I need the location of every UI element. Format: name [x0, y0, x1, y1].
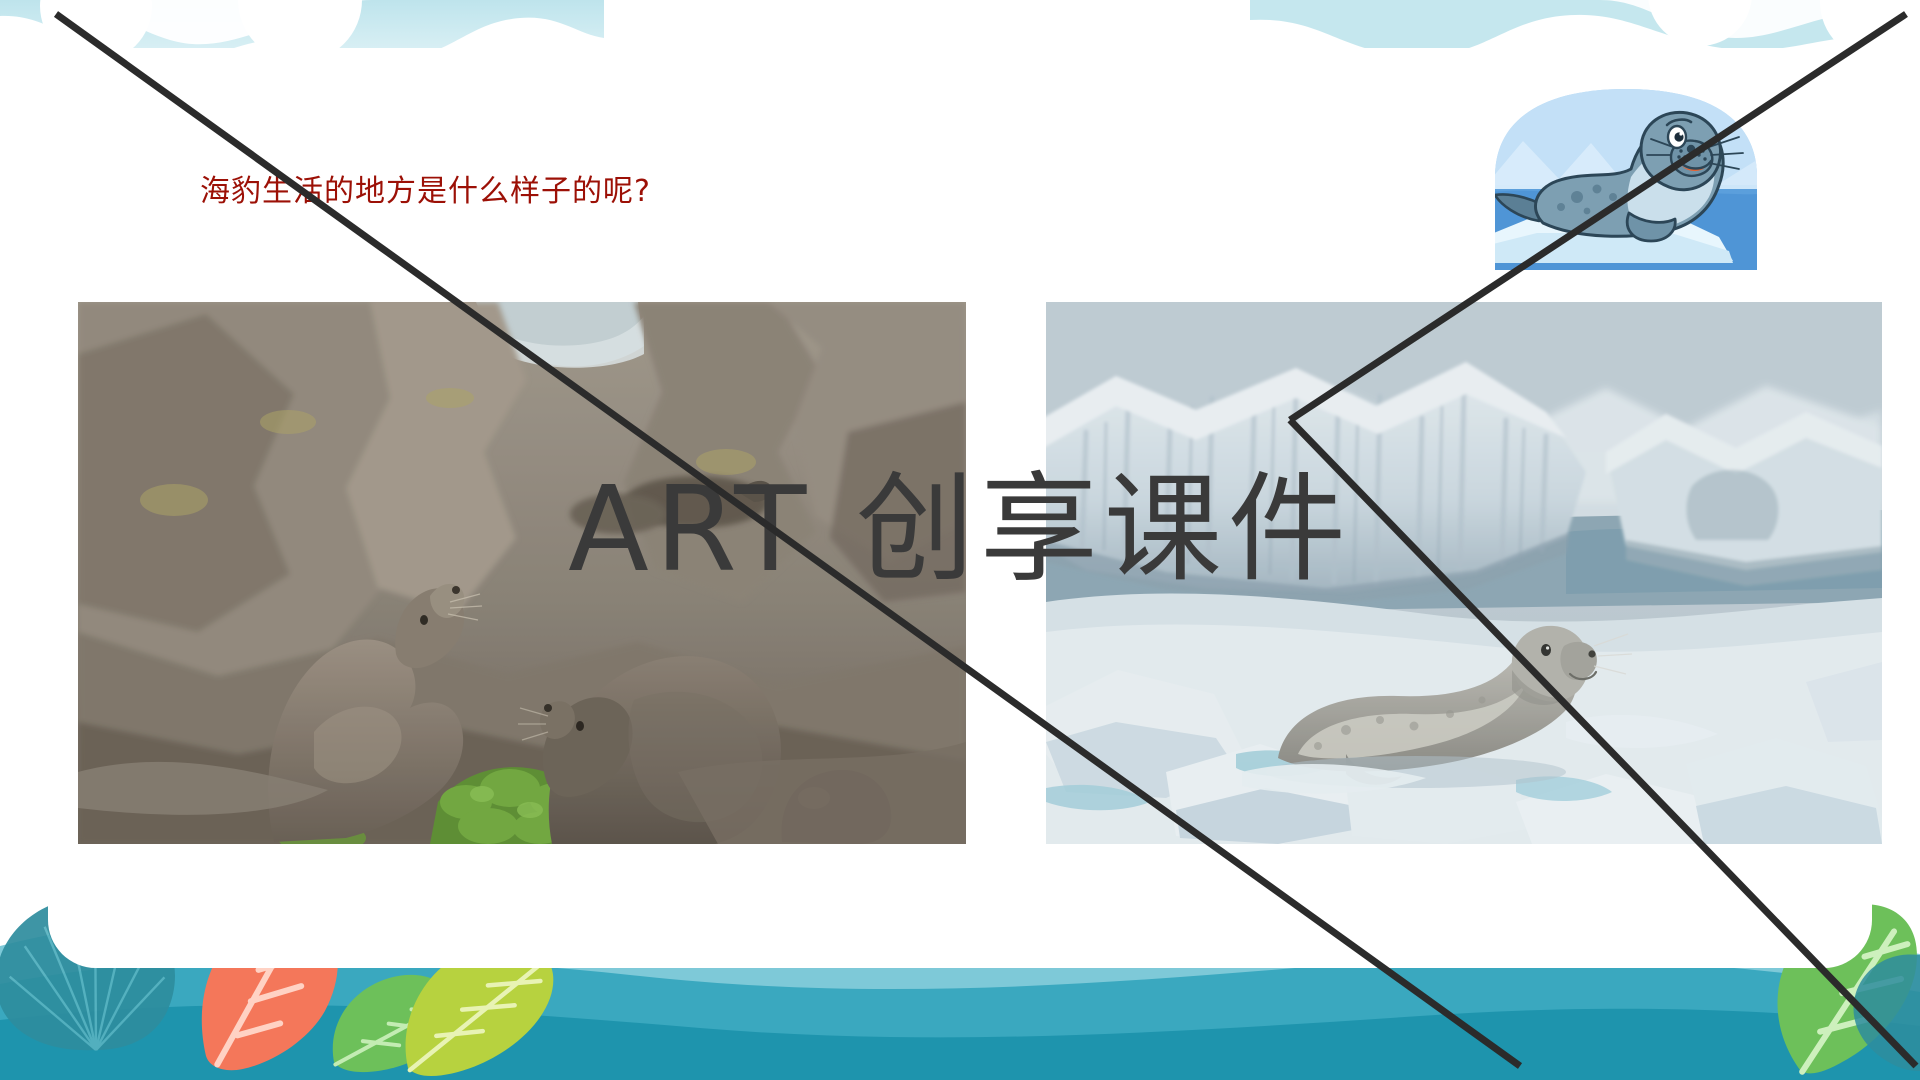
presentation-slide: 海豹生活的地方是什么样子的呢?	[0, 0, 1920, 1080]
photo-seals-on-rocky-coast	[78, 302, 966, 844]
photo-seal-on-antarctic-ice	[1046, 302, 1882, 844]
seal-mascot-icon	[1481, 85, 1771, 270]
leaf-teal-right	[1844, 945, 1920, 1079]
leaf-green-small	[326, 957, 465, 1080]
page-title: 海豹生活的地方是什么样子的呢?	[200, 172, 651, 212]
